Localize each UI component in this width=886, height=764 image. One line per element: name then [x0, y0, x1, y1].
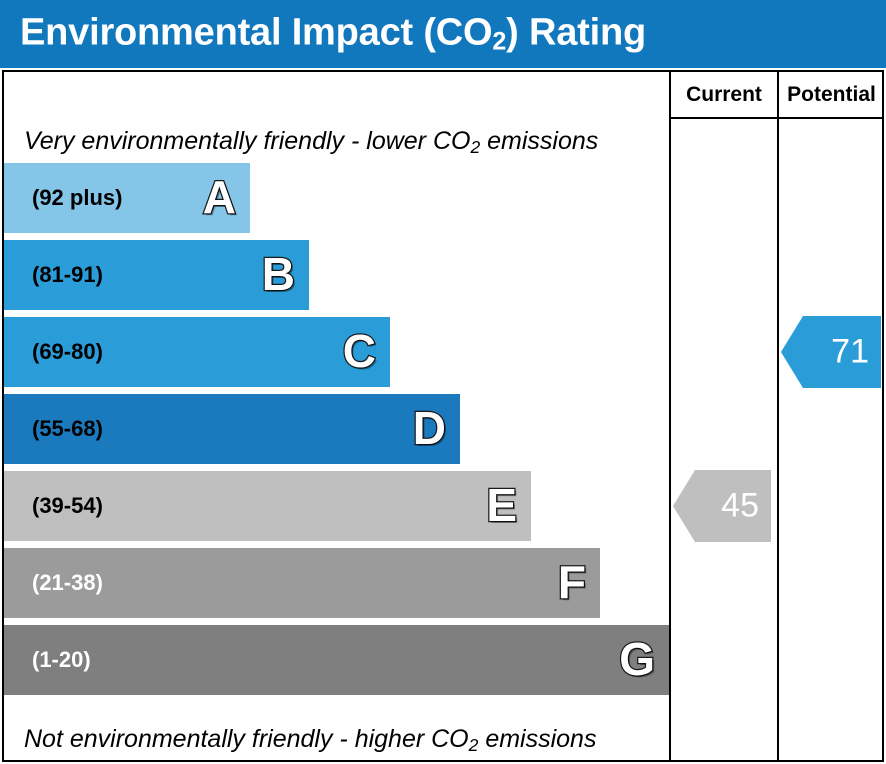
caption-bottom-suffix: emissions: [478, 725, 596, 753]
column-header-potential: Potential: [779, 79, 884, 111]
band-letter-c: C: [343, 328, 376, 374]
band-letter-b: B: [262, 251, 295, 297]
potential-rating-value: 71: [831, 334, 869, 368]
column-separator-potential: [777, 72, 779, 760]
rating-band-a: (92 plus)A: [4, 163, 250, 233]
rating-band-d: (55-68)D: [4, 394, 460, 464]
column-header-rule: [669, 117, 884, 119]
epc-environmental-impact-chart: Environmental Impact (CO2) Rating Curren…: [0, 0, 886, 764]
band-range-f: (21-38): [32, 570, 103, 596]
rating-bands-region: Very environmentally friendly - lower CO…: [4, 119, 667, 760]
band-range-a: (92 plus): [32, 185, 122, 211]
band-range-c: (69-80): [32, 339, 103, 365]
caption-top-suffix: emissions: [480, 127, 598, 155]
rating-band-g: (1-20)G: [4, 625, 669, 695]
current-rating-value: 45: [721, 488, 759, 522]
band-range-e: (39-54): [32, 493, 103, 519]
band-letter-d: D: [413, 405, 446, 451]
band-letter-e: E: [486, 482, 517, 528]
rating-band-e: (39-54)E: [4, 471, 531, 541]
caption-bottom-subscript: 2: [469, 735, 479, 755]
band-range-d: (55-68): [32, 416, 103, 442]
potential-rating-marker: 71: [781, 316, 881, 388]
rating-band-c: (69-80)C: [4, 317, 390, 387]
rating-band-b: (81-91)B: [4, 240, 309, 310]
band-range-b: (81-91): [32, 262, 103, 288]
caption-top-subscript: 2: [470, 137, 480, 157]
band-letter-a: A: [203, 174, 236, 220]
column-header-current: Current: [671, 79, 777, 111]
band-range-g: (1-20): [32, 647, 91, 673]
caption-top-prefix: Very environmentally friendly - lower CO: [24, 127, 470, 155]
band-letter-f: F: [558, 559, 586, 605]
rating-band-f: (21-38)F: [4, 548, 600, 618]
chart-header-bar: Environmental Impact (CO2) Rating: [0, 0, 886, 68]
chart-table-frame: Current Potential Very environmentally f…: [2, 70, 884, 762]
chart-title-suffix: ) Rating: [506, 12, 646, 54]
current-rating-marker: 45: [673, 470, 771, 542]
caption-top: Very environmentally friendly - lower CO…: [24, 122, 598, 160]
column-separator-current: [669, 72, 671, 760]
caption-bottom-prefix: Not environmentally friendly - higher CO: [24, 725, 469, 753]
chart-title: Environmental Impact (CO2) Rating: [20, 12, 646, 55]
chart-title-subscript: 2: [492, 28, 506, 56]
band-letter-g: G: [619, 636, 655, 682]
caption-bottom: Not environmentally friendly - higher CO…: [24, 720, 596, 758]
chart-title-prefix: Environmental Impact (CO: [20, 12, 492, 54]
